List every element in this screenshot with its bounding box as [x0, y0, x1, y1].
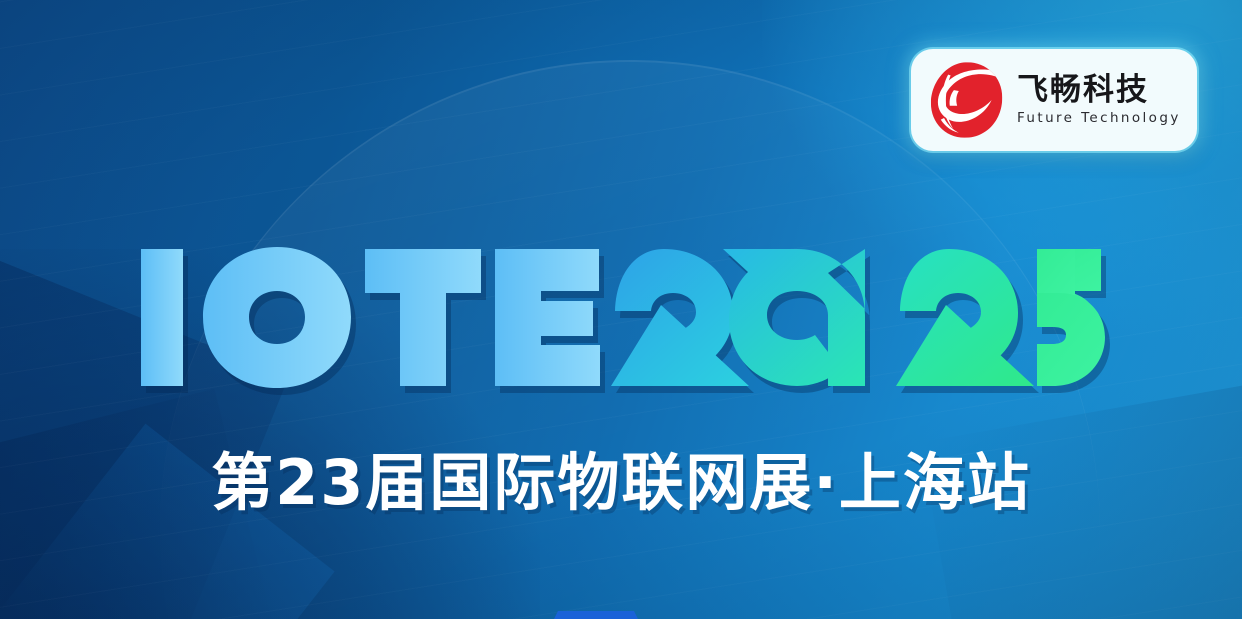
company-logo-badge[interactable]: 飞畅科技 Future Technology — [911, 49, 1197, 151]
feichang-globe-mark-icon — [925, 59, 1009, 141]
event-wordmark — [0, 238, 1242, 398]
bottom-accent-tab — [554, 611, 638, 619]
company-name-en: Future Technology — [1017, 112, 1181, 126]
company-name-cn: 飞畅科技 — [1017, 75, 1181, 107]
poster-canvas: 飞畅科技 Future Technology — [0, 0, 1242, 619]
iote-2025-logotype-icon — [137, 243, 1105, 393]
event-subtitle: 第23届国际物联网展·上海站 — [0, 452, 1242, 514]
company-logo-text: 飞畅科技 Future Technology — [1017, 75, 1181, 125]
